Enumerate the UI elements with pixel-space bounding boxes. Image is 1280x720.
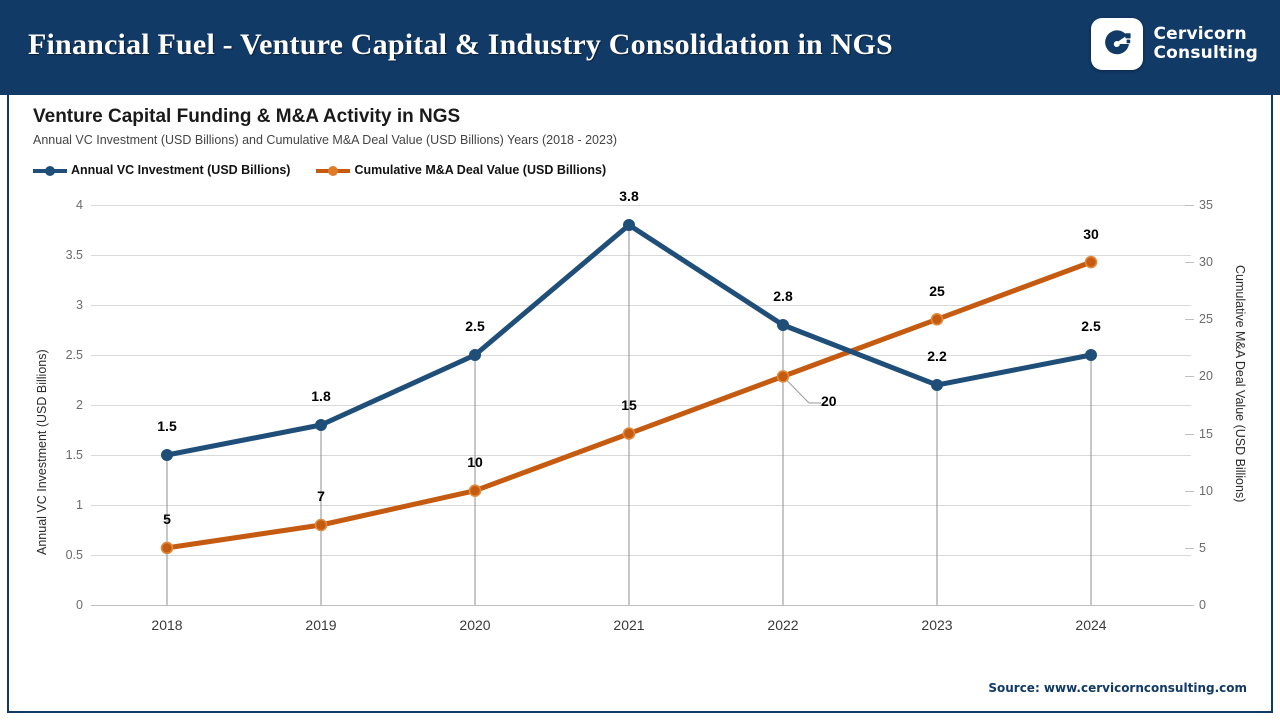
data-label-ma-2020: 10	[445, 454, 505, 470]
plot-area: Annual VC Investment (USD Billions) Cumu…	[9, 95, 1275, 713]
data-label-vc-2019: 1.8	[291, 388, 351, 404]
x-tick-2022: 2022	[743, 617, 823, 633]
data-label-ma-2019: 7	[291, 488, 351, 504]
data-label-ma-2022: 20	[821, 393, 861, 409]
data-label-vc-2021: 3.8	[599, 188, 659, 204]
data-label-vc-2022: 2.8	[753, 288, 813, 304]
slide-page: Financial Fuel - Venture Capital & Indus…	[0, 0, 1280, 720]
x-tick-2021: 2021	[589, 617, 669, 633]
data-label-vc-2018: 1.5	[137, 418, 197, 434]
brand-name-line1: Cervicorn	[1153, 25, 1258, 44]
x-tick-2024: 2024	[1051, 617, 1131, 633]
cervicorn-c-icon	[1091, 18, 1143, 70]
source-note: Source: www.cervicornconsulting.com	[988, 681, 1247, 695]
data-label-ma-2024: 30	[1061, 226, 1121, 242]
data-label-vc-2024: 2.5	[1061, 318, 1121, 334]
x-tick-2019: 2019	[281, 617, 361, 633]
chart-card: Venture Capital Funding & M&A Activity i…	[7, 95, 1273, 713]
x-tick-2023: 2023	[897, 617, 977, 633]
x-tick-2020: 2020	[435, 617, 515, 633]
data-label-vc-2023: 2.2	[907, 348, 967, 364]
data-label-vc-2020: 2.5	[445, 318, 505, 334]
data-label-ma-2021: 15	[599, 397, 659, 413]
page-title: Financial Fuel - Venture Capital & Indus…	[28, 28, 893, 62]
brand-name: Cervicorn Consulting	[1153, 25, 1258, 63]
header-banner: Financial Fuel - Venture Capital & Indus…	[0, 0, 1280, 95]
brand-logo: Cervicorn Consulting	[1091, 18, 1258, 70]
data-label-ma-2018: 5	[137, 511, 197, 527]
dropline-group	[167, 225, 1091, 605]
x-tick-2018: 2018	[127, 617, 207, 633]
data-label-ma-2023: 25	[907, 283, 967, 299]
brand-name-line2: Consulting	[1153, 44, 1258, 63]
